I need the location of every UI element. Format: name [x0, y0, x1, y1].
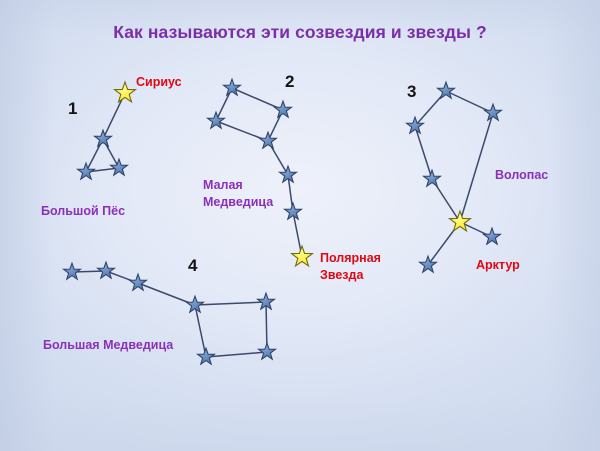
- bright-star-icon: [450, 211, 471, 231]
- constellation-num-4: 4: [188, 255, 197, 277]
- constellation-num-3: 3: [407, 81, 416, 103]
- constellation-line: [460, 113, 493, 222]
- constellation-label-ursa-major: Большая Медведица: [43, 337, 173, 354]
- star-icon: [484, 104, 501, 120]
- star-icon: [423, 170, 440, 186]
- star-icon: [483, 228, 500, 244]
- constellation-line: [415, 126, 432, 179]
- star-icon: [223, 79, 240, 95]
- constellation-lines: [72, 88, 493, 357]
- page-title: Как называются эти созвездия и звезды ?: [0, 22, 600, 43]
- constellation-line: [138, 283, 195, 305]
- star-icon: [284, 203, 301, 219]
- constellation-line: [195, 302, 266, 305]
- star-label-line: Полярная: [320, 250, 381, 267]
- star-icon: [258, 343, 275, 359]
- constellation-num-2: 2: [285, 71, 294, 93]
- constellation-num-1: 1: [68, 98, 77, 120]
- star-icon: [129, 274, 146, 290]
- star-label-bootes: Арктур: [476, 257, 520, 274]
- star-icon: [437, 82, 454, 98]
- star-label-ursa-minor: ПолярнаяЗвезда: [320, 250, 381, 283]
- constellation-line: [206, 352, 267, 357]
- star-icon: [94, 130, 111, 146]
- star-label-line: Звезда: [320, 267, 381, 284]
- constellation-label-bootes: Волопас: [495, 167, 548, 184]
- constellation-label-line: Малая: [203, 177, 273, 194]
- star-icon: [207, 112, 224, 128]
- star-icon: [110, 159, 127, 175]
- constellation-stars: [63, 79, 501, 364]
- star-icon: [274, 101, 291, 117]
- constellation-map: [0, 0, 600, 451]
- star-icon: [259, 132, 276, 148]
- constellation-label-canis-major: Большой Пёс: [41, 203, 125, 220]
- bright-star-icon: [115, 82, 136, 102]
- star-icon: [63, 263, 80, 279]
- star-icon: [197, 348, 214, 364]
- constellation-label-line: Медведица: [203, 194, 273, 211]
- star-icon: [97, 262, 114, 278]
- slide-canvas: Как называются эти созвездия и звезды ? …: [0, 0, 600, 451]
- star-label-canis-major: Сириус: [136, 74, 182, 91]
- constellation-label-ursa-minor: МалаяМедведица: [203, 177, 273, 210]
- constellation-line: [232, 88, 283, 110]
- star-icon: [419, 256, 436, 272]
- star-icon: [77, 163, 94, 179]
- star-icon: [186, 296, 203, 312]
- bright-star-icon: [292, 246, 313, 266]
